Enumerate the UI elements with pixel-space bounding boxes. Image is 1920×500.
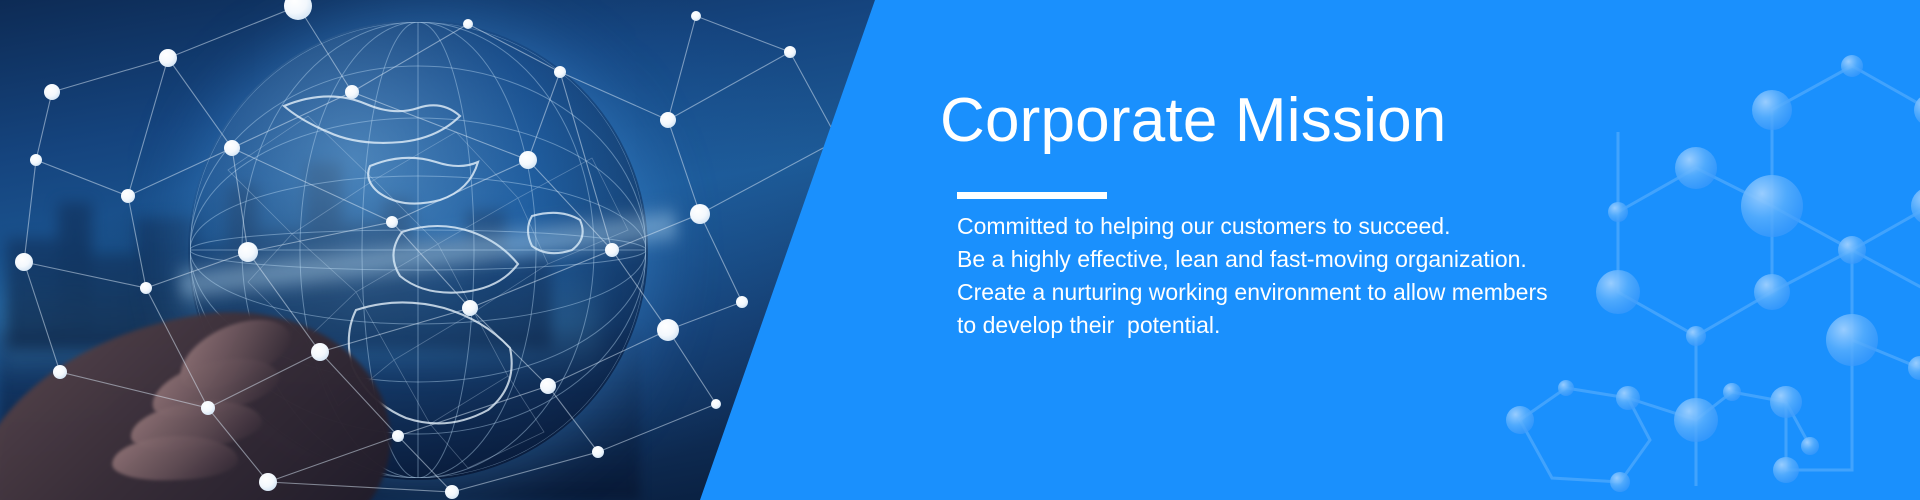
banner-content: Corporate Mission Committed to helping o… — [940, 0, 1700, 500]
network-edges — [24, 6, 838, 492]
mission-statement: Committed to helping our customers to su… — [957, 210, 1677, 342]
network-nodes — [15, 0, 796, 499]
mission-line: Committed to helping our customers to su… — [957, 210, 1677, 243]
mission-line: Create a nurturing working environment t… — [957, 276, 1677, 309]
network-overlay — [0, 0, 900, 500]
mission-line: to develop their potential. — [957, 309, 1677, 342]
mission-line: Be a highly effective, lean and fast-mov… — [957, 243, 1677, 276]
title-divider — [957, 192, 1107, 199]
corporate-mission-banner: Corporate Mission Committed to helping o… — [0, 0, 1920, 500]
page-title: Corporate Mission — [940, 88, 1446, 155]
globe-network-photo — [0, 0, 900, 500]
